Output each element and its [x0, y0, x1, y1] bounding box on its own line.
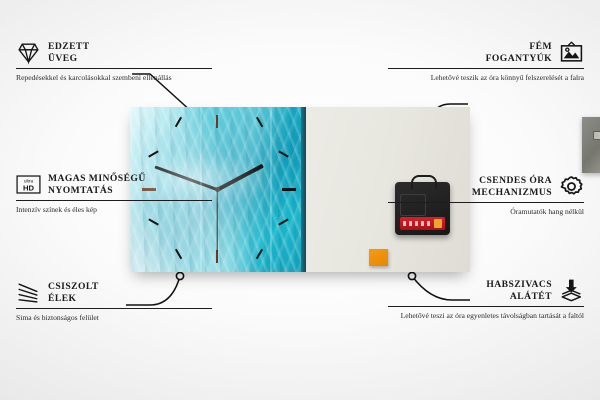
feature-description: Lehetővé teszi az óra egyenletes távolsá…: [388, 311, 584, 321]
feature-divider: [16, 68, 212, 69]
feature-title-line1: MAGAS MINŐSÉGŰ: [48, 173, 146, 185]
ultra-hd-icon: ultra HD: [16, 172, 41, 197]
feature-title-line1: CSENDES ÓRA: [472, 175, 552, 187]
feature-divider: [16, 200, 212, 201]
feature-description: Lehetővé teszik az óra könnyű felszerelé…: [388, 73, 584, 83]
gear-icon: [559, 174, 584, 199]
svg-text:HD: HD: [23, 183, 35, 192]
battery: [400, 217, 445, 230]
feature-title-line2: NYOMTATÁS: [48, 185, 146, 197]
infographic-canvas: EDZETT ÜVEG Repedésekkel és karcolásokka…: [0, 0, 600, 400]
feature-high-quality-print: ultra HD MAGAS MINŐSÉGŰ NYOMTATÁS Intenz…: [16, 172, 212, 214]
feature-title-line1: EDZETT: [48, 41, 90, 53]
feature-divider: [388, 202, 584, 203]
clock-hour-hand: [216, 164, 264, 192]
feature-title-line2: ÜVEG: [48, 53, 90, 65]
feature-title-line1: HABSZIVACS: [486, 279, 552, 291]
feature-title-line2: ALÁTÉT: [486, 291, 552, 303]
feature-title-line2: FOGANTYÚK: [486, 53, 552, 65]
picture-frame-hanger-icon: [559, 40, 584, 65]
feature-divider: [388, 68, 584, 69]
feature-title-line2: ÉLEK: [48, 293, 99, 305]
feature-title-line2: MECHANIZMUS: [472, 187, 552, 199]
bracket-slot: [593, 131, 600, 140]
feature-metal-handles: FÉM FOGANTYÚK Lehetővé teszik az óra kön…: [388, 40, 584, 82]
metal-bracket: [582, 117, 600, 173]
polished-edges-icon: [16, 280, 41, 305]
feature-silent-mechanism: CSENDES ÓRA MECHANIZMUS Óramutatók hang …: [388, 174, 584, 216]
diamond-icon: [16, 40, 41, 65]
feature-description: Sima és biztonságos felület: [16, 313, 212, 323]
clock-second-hand: [216, 190, 217, 252]
clock-center-pivot: [215, 187, 220, 192]
foam-pad-arrow-icon: [559, 278, 584, 303]
feature-divider: [388, 306, 584, 307]
foam-pad: [369, 249, 388, 266]
connector-dot-edges: [176, 272, 183, 279]
feature-polished-edges: CSISZOLT ÉLEK Sima és biztonságos felüle…: [16, 280, 212, 322]
feature-title-line1: FÉM: [486, 41, 552, 53]
feature-tempered-glass: EDZETT ÜVEG Repedésekkel és karcolásokka…: [16, 40, 212, 82]
feature-description: Óramutatók hang nélkül: [388, 207, 584, 217]
feature-description: Repedésekkel és karcolásokkal szembeni e…: [16, 73, 212, 83]
battery-stripe: [403, 221, 433, 226]
feature-description: Intenzív színek és éles kép: [16, 205, 212, 215]
feature-foam-pad: HABSZIVACS ALÁTÉT Lehetővé teszi az óra …: [388, 278, 584, 320]
feature-divider: [16, 308, 212, 309]
feature-title-line1: CSISZOLT: [48, 281, 99, 293]
